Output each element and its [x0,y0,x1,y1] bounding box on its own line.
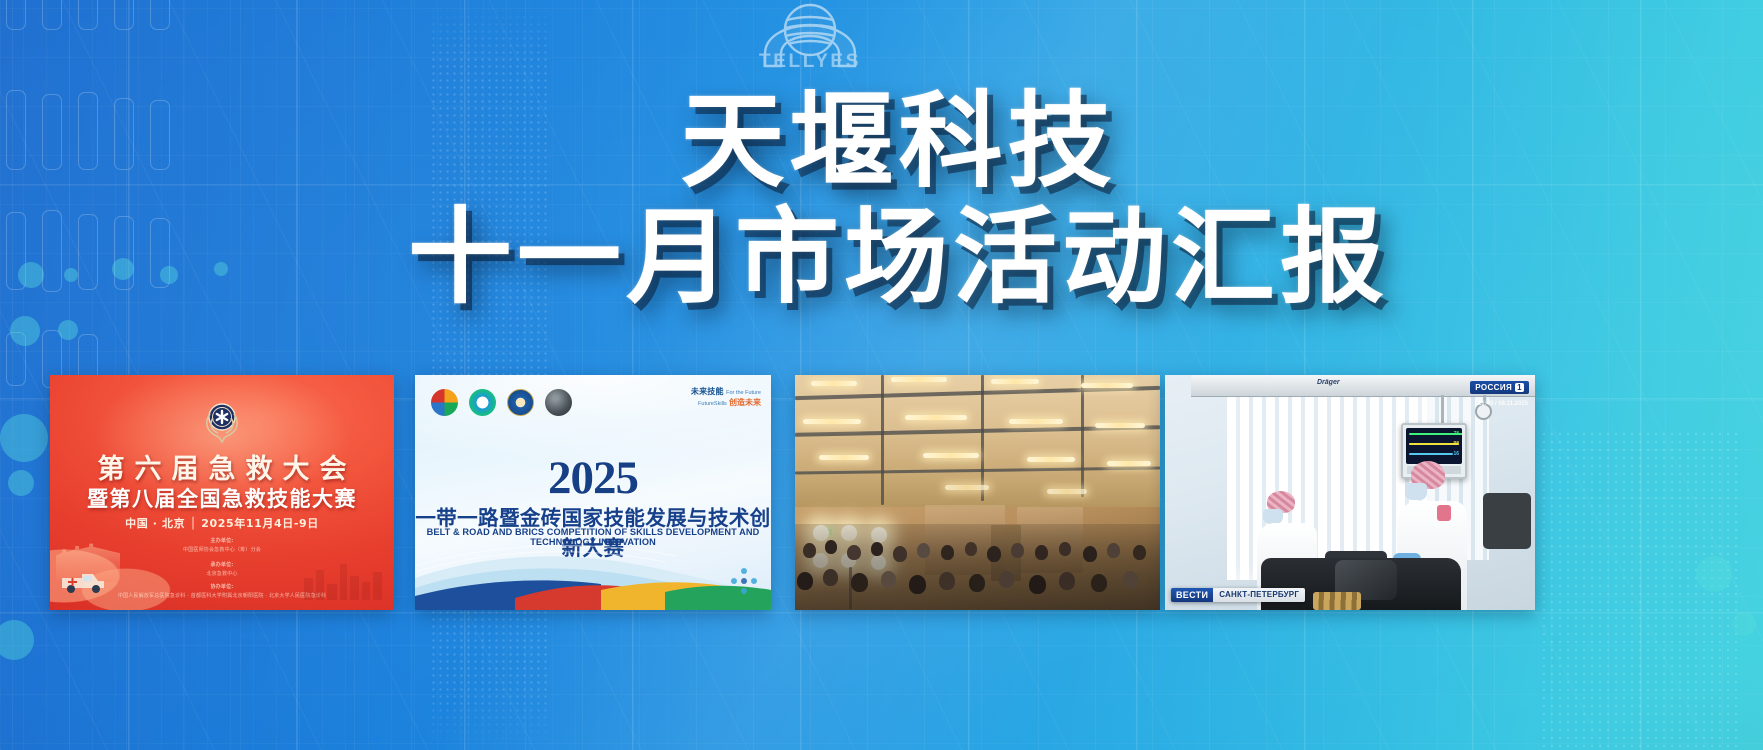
t2-slogan-en-1: For the Future [726,390,761,396]
t1-fine-print-1: 主办单位: 中国医师协会急救中心（筹）分会 [50,537,394,555]
rossiya-1-channel-badge: РОССИЯ 1 [1470,381,1529,394]
t2-slogan-en-2: FutureSkills [698,401,727,407]
t2-year: 2025 [415,451,771,505]
t1-fine-text-2: 北京急救中心 [206,571,237,577]
thumbnail-belt-road-brics[interactable]: 未来技能 For the Future FutureSkills 创造未来 20… [415,375,771,610]
t2-slogan: 未来技能 For the Future FutureSkills 创造未来 [691,387,761,408]
t3-audience [795,524,1160,610]
t2-slogan-cn-1: 未来技能 [691,387,724,396]
channel-name: РОССИЯ [1475,383,1512,392]
t1-fine-label-2: 承办单位: [211,562,234,568]
t1-meta: 中国 · 北京 │ 2025年11月4日-9日 [50,515,394,531]
patient-blanket [1313,592,1361,610]
tellyes-wordmark: TELLYES [735,51,885,73]
deco-dot [10,316,40,346]
ventilator-unit [1483,493,1531,549]
banner-secondary-text: САНКТ-ПЕТЕРБУРГ [1213,588,1305,602]
deco-dot [1732,612,1756,636]
city-skyline-icon [302,558,386,600]
channel-number: 1 [1515,383,1524,392]
banner-primary-text: ВЕСТИ [1171,588,1213,602]
tellyes-logo [545,389,572,416]
drager-brand-label: Dräger [1317,379,1340,386]
emergency-star-of-life-wreath-icon [197,396,247,446]
shield-emblem-logo [507,389,534,416]
thumbnail-emergency-congress[interactable]: 第六届急救大会 暨第八届全国急救技能大赛 中国 · 北京 │ 2025年11月4… [50,375,394,610]
thumbnail-conference-hall[interactable] [795,375,1160,610]
deco-dot [58,320,78,340]
broadcast-timestamp: 21:45 / 08.11.2025 [1478,401,1528,407]
t1-heading: 第六届急救大会 [50,447,394,486]
t2-wave-graphic [415,532,771,610]
deco-dot [1696,556,1732,592]
t2-organizer-logos [431,389,572,416]
tellyes-logo: TELLYES [735,0,885,84]
title-line-1: 天堰科技 [0,88,1763,194]
page-title: 天堰科技 十一月市场活动汇报 [0,88,1763,310]
t1-fine-text-1: 中国医师协会急救中心（筹）分会 [183,547,261,553]
t1-subheading: 暨第八届全国急救技能大赛 [50,483,394,513]
china-skills-logo [469,389,496,416]
title-line-2: 十一月市场活动汇报 [0,204,1763,310]
t2-slogan-cn-2: 创造未来 [729,398,761,407]
news-lower-third-banner: ВЕСТИ САНКТ-ПЕТЕРБУРГ [1171,588,1305,602]
t1-fine-text-3: 中国人民解放军总医院急诊科 · 首都医科大学附属北京朝阳医院 · 北京大学人民医… [118,593,326,599]
t1-fine-label-1: 主办单位: [211,538,234,544]
ambulance-icon [60,570,106,596]
t1-fine-label-3: 协办单位: [211,584,234,590]
monitor-screen: 78 98 16 [1406,428,1462,464]
molecule-dots-icon [731,568,757,594]
brics-skills-logo [431,389,458,416]
marketing-banner: TELLYES 天堰科技 十一月市场活动汇报 [0,0,1763,750]
thumbnail-hospital-news[interactable]: Dräger 78 98 16 [1165,375,1535,610]
deco-dot [8,470,34,496]
deco-dot [0,414,48,462]
